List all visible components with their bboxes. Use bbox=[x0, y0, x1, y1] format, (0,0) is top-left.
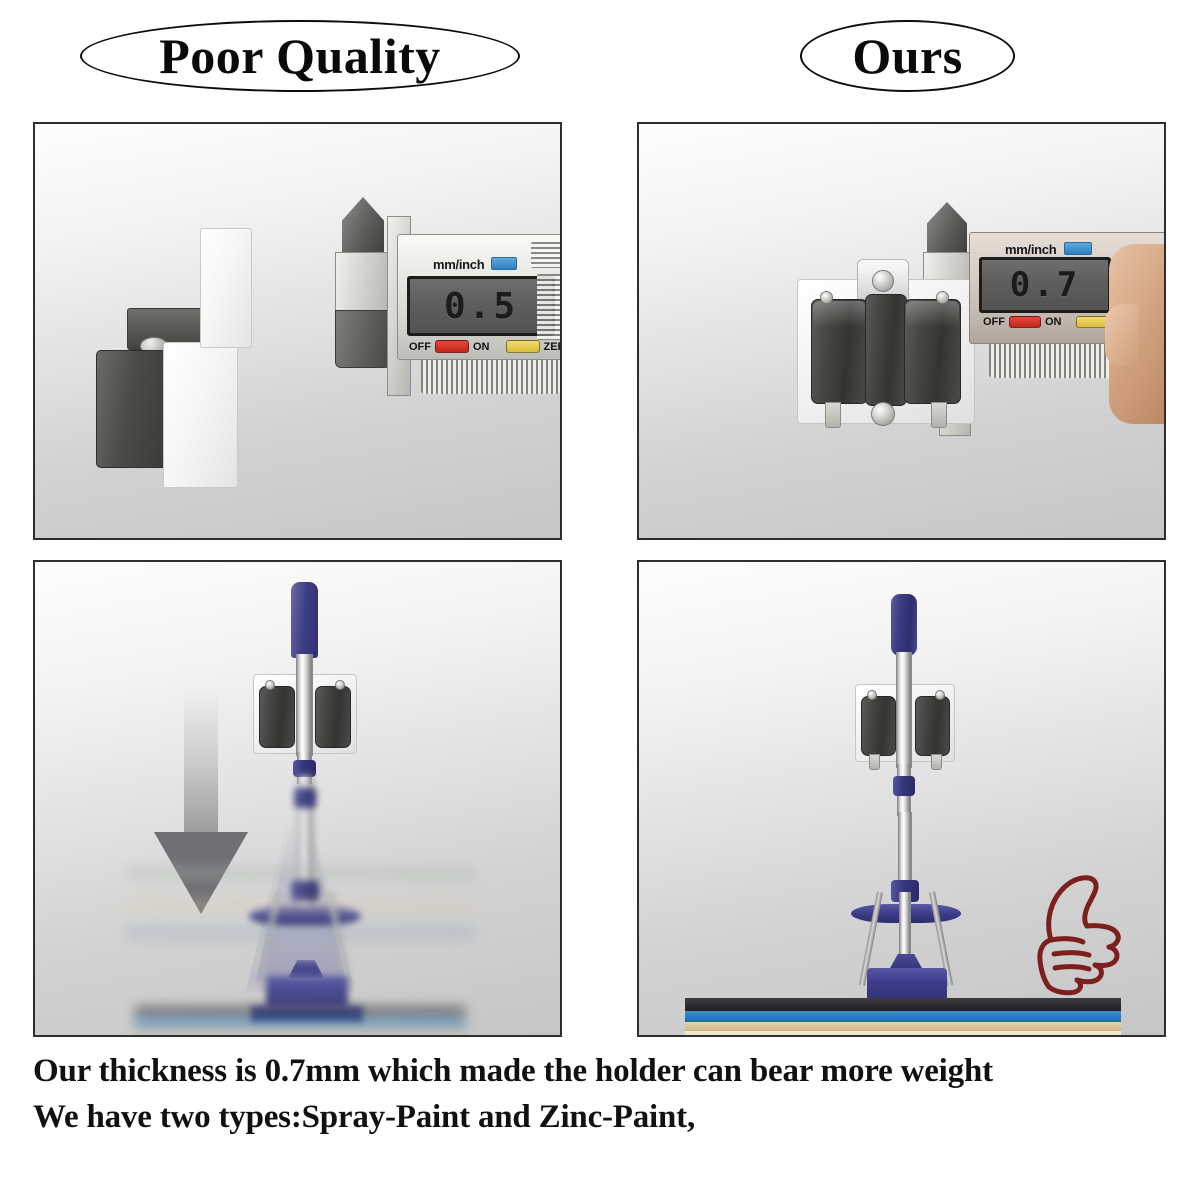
caliper-button-row-left: OFF ON ZERO bbox=[409, 340, 562, 353]
mop-head-block-ours bbox=[867, 968, 947, 1000]
panel-ours-measurement: mm/inch 0.7 OFF ON ZERO bbox=[637, 122, 1166, 540]
product-body-poor-upper bbox=[200, 228, 252, 348]
title-text-poor-quality: Poor Quality bbox=[159, 31, 440, 81]
caliper-zero-button-right[interactable] bbox=[1076, 316, 1108, 328]
caliper-off-label-right: OFF bbox=[983, 316, 1005, 328]
caliper-lcd-left: 0.5 bbox=[407, 276, 555, 336]
mop-pole-shaft-lower-ours bbox=[899, 892, 911, 958]
panel-tr-content: mm/inch 0.7 OFF ON ZERO bbox=[639, 124, 1164, 538]
caliper-on-label-right: ON bbox=[1045, 316, 1062, 328]
caliper-fins-left bbox=[531, 242, 562, 268]
mop-holder-bolt-left-poor bbox=[265, 680, 275, 690]
caliper-on-button-left[interactable] bbox=[435, 340, 469, 353]
title-badge-ours: Ours bbox=[800, 20, 1015, 92]
mop-head-block-poor bbox=[266, 976, 348, 1008]
mop-holder-bolt-right-poor bbox=[335, 680, 345, 690]
panel-tl-content: mm/inch 0.5 OFF ON ZERO bbox=[35, 124, 560, 538]
title-text-ours: Ours bbox=[852, 31, 962, 81]
mop-holder-foot-left-ours bbox=[869, 754, 880, 770]
caliper-lcd-right: 0.7 bbox=[979, 257, 1111, 313]
panel-br-content bbox=[639, 562, 1164, 1035]
mop-collar-upper-poor bbox=[293, 760, 316, 777]
mop-holder-bolt-left-ours bbox=[867, 690, 877, 700]
caliper-jaw-tip-right bbox=[927, 202, 967, 258]
mop-holder-roller-left-poor bbox=[259, 686, 295, 748]
panel-poor-quality-measurement: mm/inch 0.5 OFF ON ZERO bbox=[33, 122, 562, 540]
holder-top-bolt-ours bbox=[872, 270, 894, 292]
title-badge-poor-quality: Poor Quality bbox=[80, 20, 520, 92]
caliper-zero-button-left[interactable] bbox=[506, 340, 540, 353]
mop-pad-layer-tan-ours bbox=[685, 1022, 1121, 1031]
mop-pad-layer-tan-poor bbox=[135, 1030, 465, 1037]
caliper-jaw-upper-left bbox=[335, 252, 391, 312]
mop-holder-roller-right-ours bbox=[915, 696, 950, 756]
caption-block: Our thickness is 0.7mm which made the ho… bbox=[33, 1048, 1173, 1140]
mop-pole-through-holder-poor bbox=[296, 674, 313, 756]
caliper-unit-switch-left[interactable] bbox=[491, 257, 517, 270]
motion-smear-band-3 bbox=[125, 922, 475, 944]
holder-roller-right-highlight bbox=[906, 301, 959, 327]
caliper-unit-label-left: mm/inch bbox=[433, 257, 484, 272]
mop-pad-layer-black-poor bbox=[135, 1006, 465, 1018]
motion-smear-band-2 bbox=[125, 896, 475, 916]
caption-line-2: We have two types:Spray-Paint and Zinc-P… bbox=[33, 1094, 1173, 1140]
mop-collar-ours bbox=[893, 776, 915, 796]
mop-pad-layer-cream-ours bbox=[685, 1031, 1121, 1037]
header-row: Poor Quality Ours bbox=[0, 0, 1200, 110]
caliper-reading-left: 0.5 bbox=[444, 286, 518, 327]
thumbs-up-icon bbox=[1021, 862, 1131, 997]
holder-screw-left-ours bbox=[820, 291, 833, 304]
caliper-on-label-left: ON bbox=[473, 341, 490, 353]
mop-pad-layer-blue-poor bbox=[135, 1018, 465, 1030]
holder-bottom-bolt-ours bbox=[871, 402, 895, 426]
product-body-poor bbox=[163, 342, 238, 488]
caliper-reading-right: 0.7 bbox=[1010, 265, 1080, 305]
caption-line-1: Our thickness is 0.7mm which made the ho… bbox=[33, 1048, 1173, 1094]
panel-poor-quality-mop-falling bbox=[33, 560, 562, 1037]
caliper-on-button-right[interactable] bbox=[1009, 316, 1041, 328]
mop-assembly-poor bbox=[35, 562, 562, 1037]
panel-bl-content bbox=[35, 562, 560, 1035]
caliper-unit-switch-right[interactable] bbox=[1064, 242, 1092, 255]
holder-screw-right-ours bbox=[936, 291, 949, 304]
caliper-side-fins-left bbox=[537, 274, 561, 340]
caliper-off-label-left: OFF bbox=[409, 341, 431, 353]
motion-smear-band-1 bbox=[125, 862, 475, 884]
holder-foot-right-ours bbox=[931, 402, 947, 428]
mop-pole-through-holder-ours bbox=[896, 684, 912, 768]
mop-holder-roller-left-ours bbox=[861, 696, 896, 756]
caliper-zero-label-left: ZERO bbox=[544, 341, 563, 353]
mop-holder-bolt-right-ours bbox=[935, 690, 945, 700]
caliper-scale-left bbox=[421, 360, 561, 394]
product-roller-poor bbox=[96, 350, 169, 468]
holder-roller-center-ours bbox=[865, 294, 907, 406]
mop-pad-layer-blue-ours bbox=[685, 1011, 1121, 1022]
mop-holder-foot-right-ours bbox=[931, 754, 942, 770]
holder-foot-left-ours bbox=[825, 402, 841, 428]
mop-collar-lower-poor bbox=[294, 788, 316, 808]
caliper-jaw-lower-left bbox=[335, 310, 391, 368]
mop-holder-roller-right-poor bbox=[315, 686, 351, 748]
panel-ours-mop-held bbox=[637, 560, 1166, 1037]
thumb-shape bbox=[1105, 304, 1139, 366]
mop-grip-poor bbox=[291, 582, 318, 658]
caliper-jaw-tip-left bbox=[342, 197, 384, 259]
mop-grip-ours bbox=[891, 594, 917, 656]
caliper-unit-label-right: mm/inch bbox=[1005, 242, 1056, 257]
mop-pad-layer-black-ours bbox=[685, 998, 1121, 1011]
holder-roller-left-highlight bbox=[813, 301, 866, 327]
